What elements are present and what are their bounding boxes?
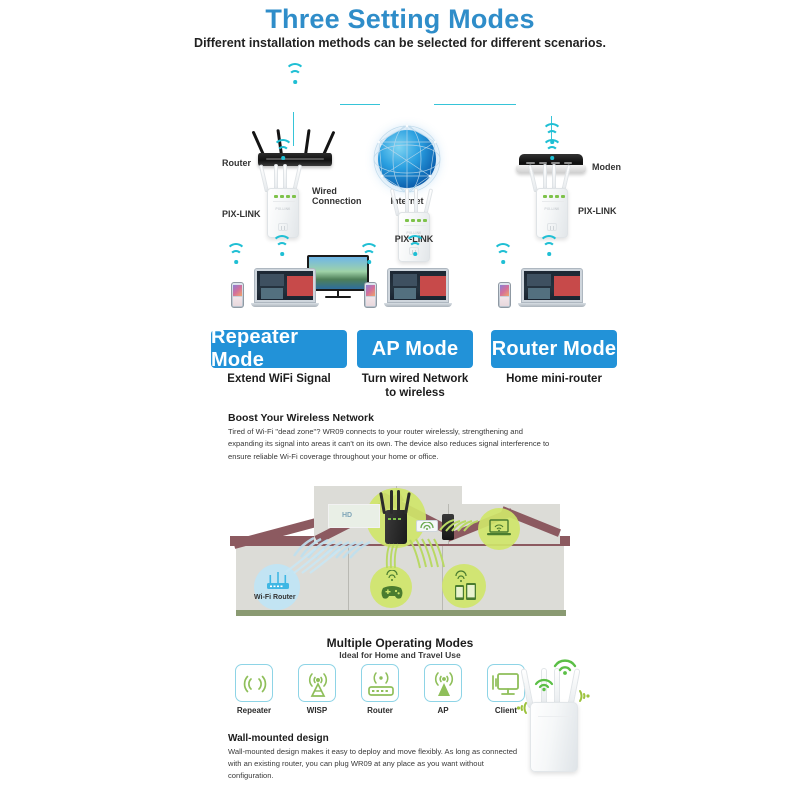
mode-caption-router: Home mini-router (481, 372, 627, 386)
laptop-icon (486, 518, 512, 538)
mode-button-repeater[interactable]: Repeater Mode (211, 330, 347, 368)
wifi-signal-icon (552, 658, 578, 676)
operating-modes-row: Repeater WISP (232, 664, 532, 726)
product-infographic: Three Setting Modes Different installati… (0, 0, 800, 800)
wifi-signal-icon (492, 248, 514, 264)
label-wifi-router: Wi-Fi Router (254, 594, 296, 601)
operating-mode-label: AP (421, 706, 465, 715)
wifi-signal-icon (284, 68, 306, 84)
label-router: Router (222, 158, 251, 168)
link-router-internet (340, 104, 380, 105)
wifi-signal-icon (538, 240, 560, 256)
operating-modes-subheading: Ideal for Home and Travel Use (0, 650, 800, 660)
gamepad-icon (378, 570, 406, 602)
wifi-signal-icon (225, 248, 247, 264)
wall-mounted-heading: Wall-mounted design (228, 733, 329, 744)
mode-caption-repeater: Extend WiFi Signal (211, 372, 347, 386)
router-box-icon (361, 664, 399, 702)
internet-globe-icon (370, 122, 444, 196)
three-modes-diagram: Router Internet (0, 58, 800, 313)
wifi-router-device (252, 146, 338, 166)
wifi-signal-icon (533, 676, 555, 692)
operating-mode-repeater[interactable]: Repeater (232, 664, 276, 715)
pixlink-extender-router: PIX-LINK (532, 164, 572, 238)
wifi-signal-icon (272, 144, 294, 160)
label-pixlink-left: PIX-LINK (222, 209, 261, 219)
house-coverage-illustration: Wi-Fi Router HD (230, 470, 575, 622)
signal-wave-blue (282, 530, 378, 576)
mode-buttons-row: Repeater Mode Extend WiFi Signal AP Mode… (0, 330, 800, 392)
wifi-signal-icon (358, 248, 380, 264)
label-wired-connection-line1: Wired (312, 186, 337, 196)
access-point-icon (424, 664, 462, 702)
operating-mode-label: WISP (295, 706, 339, 715)
signal-wave-green (406, 536, 464, 576)
wifi-icon (419, 522, 435, 530)
operating-mode-wisp[interactable]: WISP (295, 664, 339, 715)
house-ground (236, 610, 566, 616)
label-pixlink-right: PIX-LINK (578, 206, 617, 216)
client-devices-group (358, 256, 458, 308)
signal-wave-green (378, 542, 404, 572)
wifi-signal-icon (541, 144, 563, 160)
operating-mode-ap[interactable]: AP (421, 664, 465, 715)
signal-wave-green (436, 514, 484, 534)
operating-mode-label: Router (358, 706, 402, 715)
label-wired-connection-line2: Connection (312, 196, 362, 206)
operating-mode-label: Repeater (232, 706, 276, 715)
pixlink-extender-repeater: PIX-LINK (263, 164, 303, 238)
wifi-signal-icon (271, 240, 293, 256)
boost-paragraph: Tired of Wi-Fi "dead zone"? WR09 connect… (228, 426, 558, 463)
page-subtitle: Different installation methods can be se… (0, 36, 800, 50)
mode-caption-ap-line2: to wireless (385, 387, 444, 399)
mode-caption-ap-line1: Turn wired Network (362, 373, 469, 385)
client-devices-group (225, 256, 325, 308)
wifi-signal-icon (512, 700, 532, 716)
link-internet-modem (434, 104, 516, 105)
broadcast-tower-icon (298, 664, 336, 702)
wifi-signal-icon (404, 240, 426, 256)
mode-button-ap[interactable]: AP Mode (357, 330, 473, 368)
label-modem: Moden (592, 162, 621, 172)
wifi-signal-icon (576, 688, 594, 704)
client-devices-group (492, 256, 592, 308)
operating-mode-router[interactable]: Router (358, 664, 402, 715)
mode-caption-ap: Turn wired Network to wireless (347, 372, 483, 400)
mode-button-router[interactable]: Router Mode (491, 330, 617, 368)
page-title: Three Setting Modes (0, 4, 800, 35)
operating-modes-heading: Multiple Operating Modes (0, 636, 800, 650)
monitor-icon (487, 664, 525, 702)
link-router-extender (293, 112, 294, 146)
wall-mounted-paragraph: Wall-mounted design makes it easy to dep… (228, 746, 518, 782)
boost-heading: Boost Your Wireless Network (228, 412, 374, 424)
signal-waves-icon (235, 664, 273, 702)
